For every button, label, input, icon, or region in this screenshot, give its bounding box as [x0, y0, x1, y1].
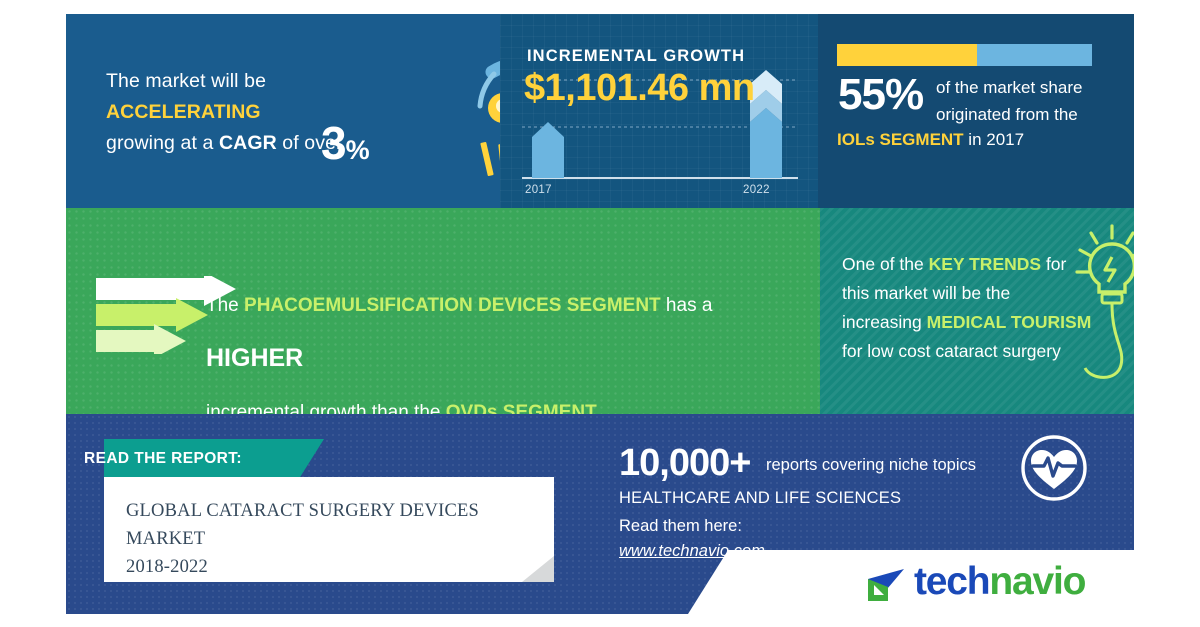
cagr-acronym: CAGR: [219, 132, 277, 154]
cagr-number: 3: [321, 117, 346, 169]
market-share-bar-fill: [837, 44, 977, 66]
lightbulb-icon: [1063, 220, 1134, 400]
heart-pulse-icon: [1018, 432, 1090, 504]
middle-row: The PHACOEMULSIFICATION DEVICES SEGMENT …: [66, 208, 1134, 414]
read-them-here-label: Read them here:: [619, 517, 742, 536]
incremental-growth-title: INCREMENTAL GROWTH: [527, 47, 745, 66]
technavio-logo: technavio: [862, 561, 1132, 607]
bar-2017: [532, 122, 564, 178]
cagr-value: 3%: [321, 120, 369, 173]
report-title-line1: GLOBAL CATARACT SURGERY DEVICES MARKET: [126, 501, 479, 549]
reports-count: 10,000+: [619, 442, 750, 485]
market-share-segment-line: IOLs SEGMENT in 2017: [837, 127, 1127, 153]
incremental-growth-chart: [514, 42, 806, 202]
market-share-line1: of the market share: [936, 78, 1082, 97]
higher-emphasis: HIGHER: [206, 344, 303, 372]
logo-navio: navio: [989, 560, 1085, 603]
cagr-line2-pre: growing at a: [106, 132, 219, 154]
phaco-segment-highlight: PHACOEMULSIFICATION DEVICES SEGMENT: [244, 295, 661, 316]
key-trends-panel: One of the KEY TRENDS for this market wi…: [820, 208, 1134, 414]
arrow-palegreen: [96, 324, 186, 354]
segment-mid: has a: [661, 295, 713, 316]
cagr-line1-pre: The market will be: [106, 70, 266, 92]
technavio-wordmark: technavio: [914, 560, 1085, 604]
infographic-frame: The market will be ACCELERATING growing …: [66, 14, 1134, 614]
market-share-line2: originated from the: [936, 105, 1078, 124]
report-title: GLOBAL CATARACT SURGERY DEVICES MARKET 2…: [126, 497, 536, 581]
market-share-panel: 55% of the market share originated from …: [818, 14, 1134, 208]
trend-line3-pre: increasing: [842, 312, 927, 332]
arrow-lightgreen: [96, 298, 208, 332]
report-category: HEALTHCARE AND LIFE SCIENCES: [619, 489, 901, 508]
trend-line1-pre: One of the: [842, 254, 929, 274]
incremental-growth-panel: INCREMENTAL GROWTH $1,101.46 mn 2017 202…: [500, 14, 818, 208]
footer-row: READ THE REPORT: GLOBAL CATARACT SURGERY…: [66, 414, 1134, 614]
reports-count-suffix: reports covering niche topics: [766, 456, 976, 475]
segment-compare-panel: The PHACOEMULSIFICATION DEVICES SEGMENT …: [66, 208, 820, 414]
cagr-accelerating-highlight: ACCELERATING: [106, 101, 261, 123]
axis-label-2017: 2017: [525, 184, 552, 196]
incremental-growth-value: $1,101.46 mn: [524, 67, 755, 110]
bar-2022: [750, 70, 782, 178]
market-share-bar: [837, 44, 1092, 66]
axis-label-2022: 2022: [743, 184, 770, 196]
segment-pre: The: [206, 295, 244, 316]
trend-line4: for low cost cataract surgery: [842, 341, 1061, 361]
market-share-percent: 55%: [838, 70, 923, 120]
key-trends-highlight: KEY TRENDS: [929, 254, 1041, 274]
logo-tech: tech: [914, 560, 989, 603]
cagr-panel: The market will be ACCELERATING growing …: [66, 14, 500, 208]
top-row: The market will be ACCELERATING growing …: [66, 14, 1134, 208]
iols-segment-highlight: IOLs SEGMENT: [837, 130, 964, 149]
market-share-year: in 2017: [964, 130, 1025, 149]
trend-line2: this market will be the: [842, 283, 1010, 303]
report-title-line2: 2018-2022: [126, 557, 208, 577]
read-the-report-label: READ THE REPORT:: [84, 450, 242, 468]
paper-plane-icon: [862, 563, 908, 607]
market-share-text: of the market share originated from the: [936, 74, 1126, 128]
cagr-percent-sign: %: [346, 135, 369, 165]
